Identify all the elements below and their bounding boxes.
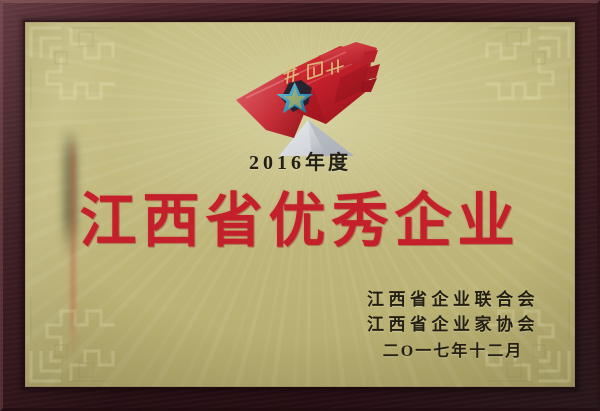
issuer-line: 江西省企业联合会	[367, 288, 539, 313]
year-suffix: 年度	[305, 152, 351, 174]
issuer-block: 江西省企业联合会 江西省企业家协会 二O一七年十二月	[367, 288, 539, 365]
award-plaque: 2016年度 江西省优秀企业 江西省企业联合会 江西省企业家协会 二O一七年十二…	[0, 0, 600, 411]
issuer-line: 江西省企业家协会	[367, 313, 539, 338]
certificate-panel: 2016年度 江西省优秀企业 江西省企业联合会 江西省企业家协会 二O一七年十二…	[25, 22, 575, 387]
year-line: 2016年度	[25, 146, 575, 175]
page-title: 江西省优秀企业	[25, 189, 575, 253]
issue-date: 二O一七年十二月	[367, 339, 539, 365]
year-number: 2016	[249, 152, 305, 174]
jinggangshan-flag-emblem-icon	[222, 38, 392, 156]
